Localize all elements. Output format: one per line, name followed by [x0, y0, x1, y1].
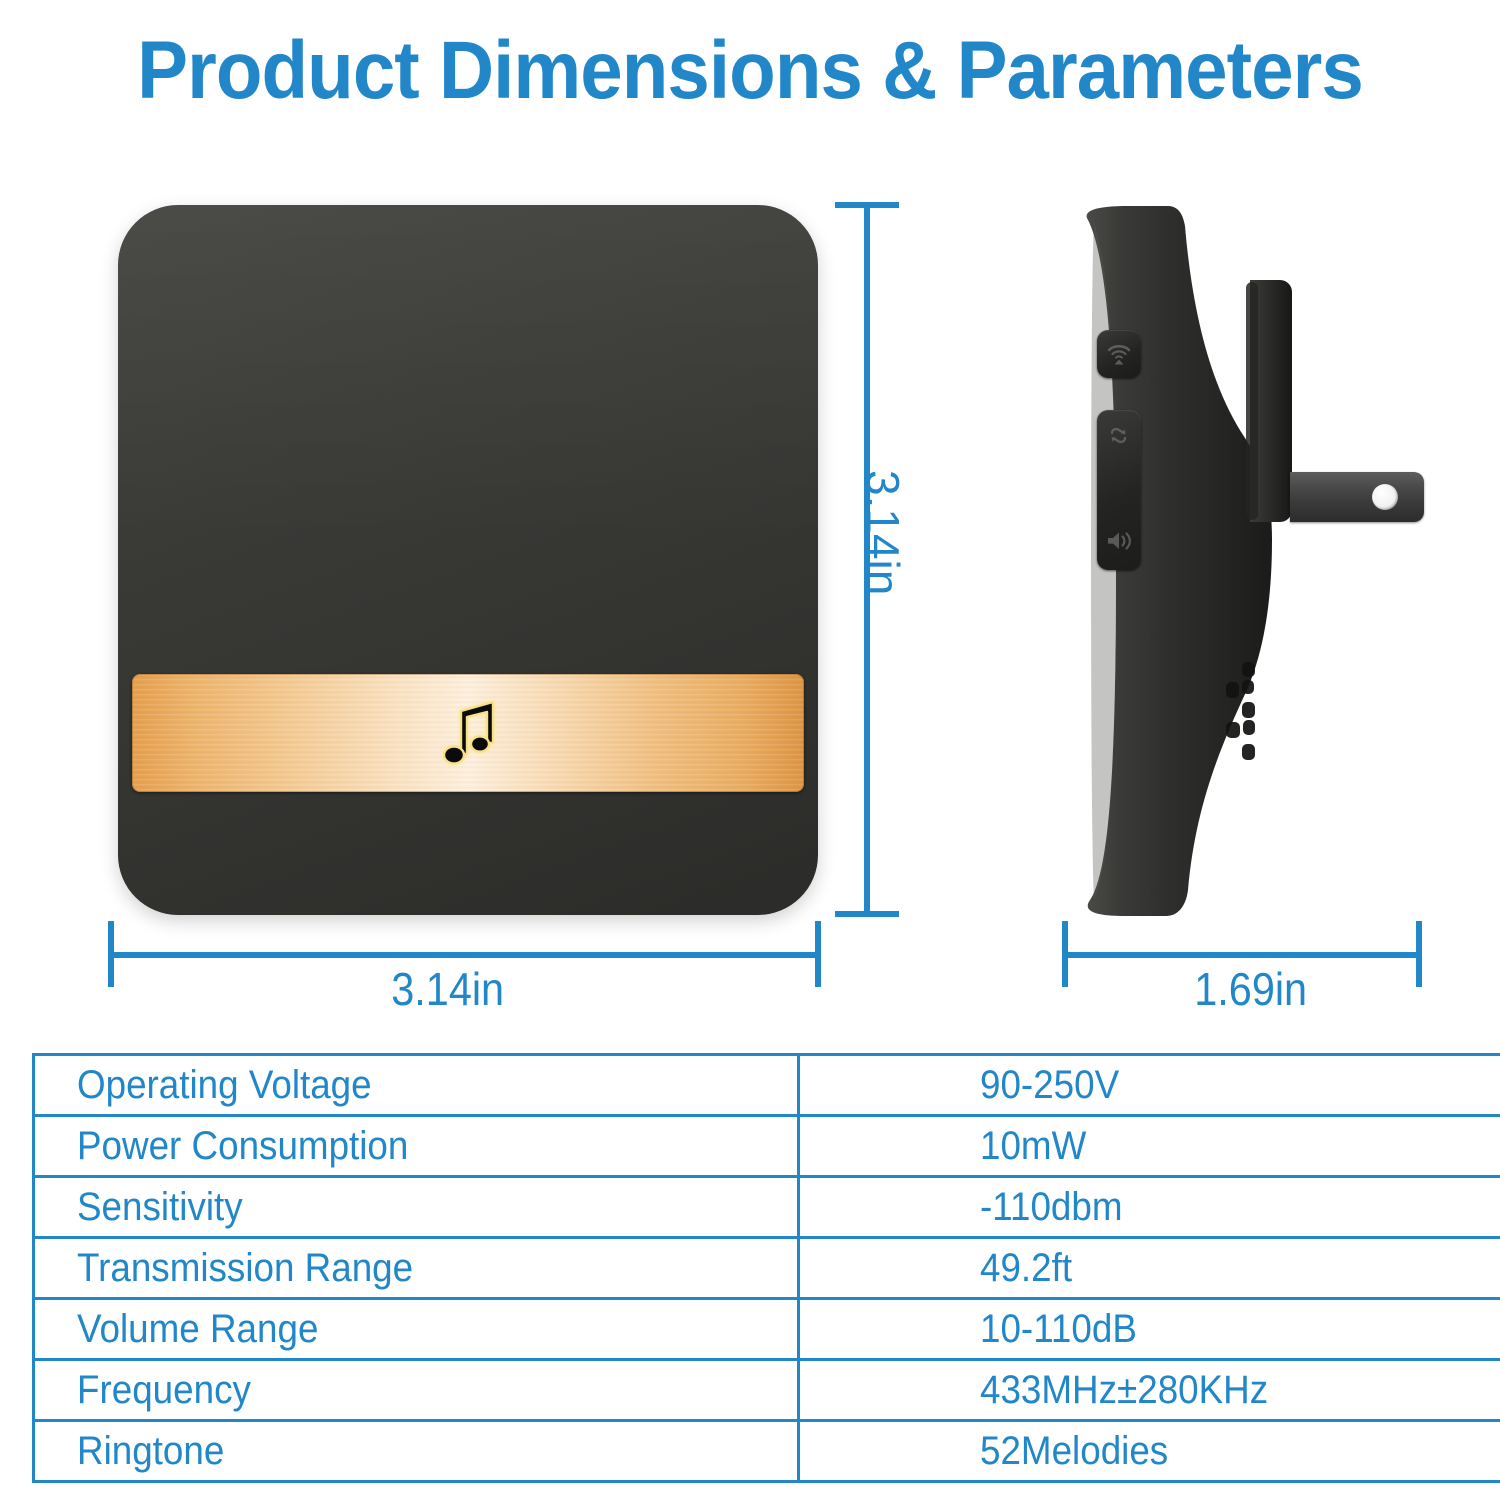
volume-icon	[1106, 528, 1133, 554]
spec-value: -110dbm	[799, 1177, 1500, 1238]
spec-value: 10-110dB	[799, 1299, 1500, 1360]
spec-value: 52Melodies	[799, 1421, 1500, 1482]
spec-label: Sensitivity	[34, 1177, 799, 1238]
front-height-dim-cap-bottom	[835, 911, 899, 917]
melody-volume-button[interactable]	[1097, 410, 1141, 570]
signal-button[interactable]	[1097, 330, 1141, 378]
prong-hole	[1372, 484, 1398, 510]
table-row: Ringtone 52Melodies	[34, 1421, 1500, 1482]
infographic-page: Product Dimensions & Parameters 3.14in 3…	[0, 0, 1500, 1500]
music-note-icon	[437, 693, 503, 773]
side-width-dim-cap-left	[1062, 921, 1068, 987]
spec-value: 10mW	[799, 1116, 1500, 1177]
us-plug-prong	[1290, 472, 1424, 522]
gold-button-bar[interactable]	[132, 674, 804, 792]
spec-value: 90-250V	[799, 1055, 1500, 1116]
front-width-dim-cap-left	[108, 921, 114, 987]
table-row: Sensitivity -110dbm	[34, 1177, 1500, 1238]
front-width-dim-label: 3.14in	[391, 962, 504, 1016]
spec-label: Volume Range	[34, 1299, 799, 1360]
side-width-dim-cap-right	[1416, 921, 1422, 987]
side-width-dim-line	[1062, 952, 1422, 958]
spec-value: 49.2ft	[799, 1238, 1500, 1299]
table-row: Power Consumption 10mW	[34, 1116, 1500, 1177]
loop-melody-icon	[1107, 424, 1131, 448]
spec-table: Operating Voltage 90-250V Power Consumpt…	[32, 1053, 1500, 1483]
wifi-signal-icon	[1106, 343, 1132, 365]
front-height-dim-cap-top	[835, 202, 899, 208]
front-width-dim-cap-right	[815, 921, 821, 987]
side-width-dim-label: 1.69in	[1194, 962, 1307, 1016]
table-row: Frequency 433MHz±280KHz	[34, 1360, 1500, 1421]
table-row: Operating Voltage 90-250V	[34, 1055, 1500, 1116]
spec-table-body: Operating Voltage 90-250V Power Consumpt…	[34, 1055, 1500, 1482]
spec-label: Ringtone	[34, 1421, 799, 1482]
spec-label: Frequency	[34, 1360, 799, 1421]
spec-label: Operating Voltage	[34, 1055, 799, 1116]
front-width-dim-line	[108, 952, 821, 958]
spec-value: 433MHz±280KHz	[799, 1360, 1500, 1421]
table-row: Volume Range 10-110dB	[34, 1299, 1500, 1360]
speaker-grille	[1222, 660, 1274, 770]
spec-label: Power Consumption	[34, 1116, 799, 1177]
front-height-dim-label: 3.14in	[856, 470, 910, 595]
front-view-device	[118, 205, 818, 915]
page-title: Product Dimensions & Parameters	[53, 28, 1448, 114]
table-row: Transmission Range 49.2ft	[34, 1238, 1500, 1299]
spec-label: Transmission Range	[34, 1238, 799, 1299]
